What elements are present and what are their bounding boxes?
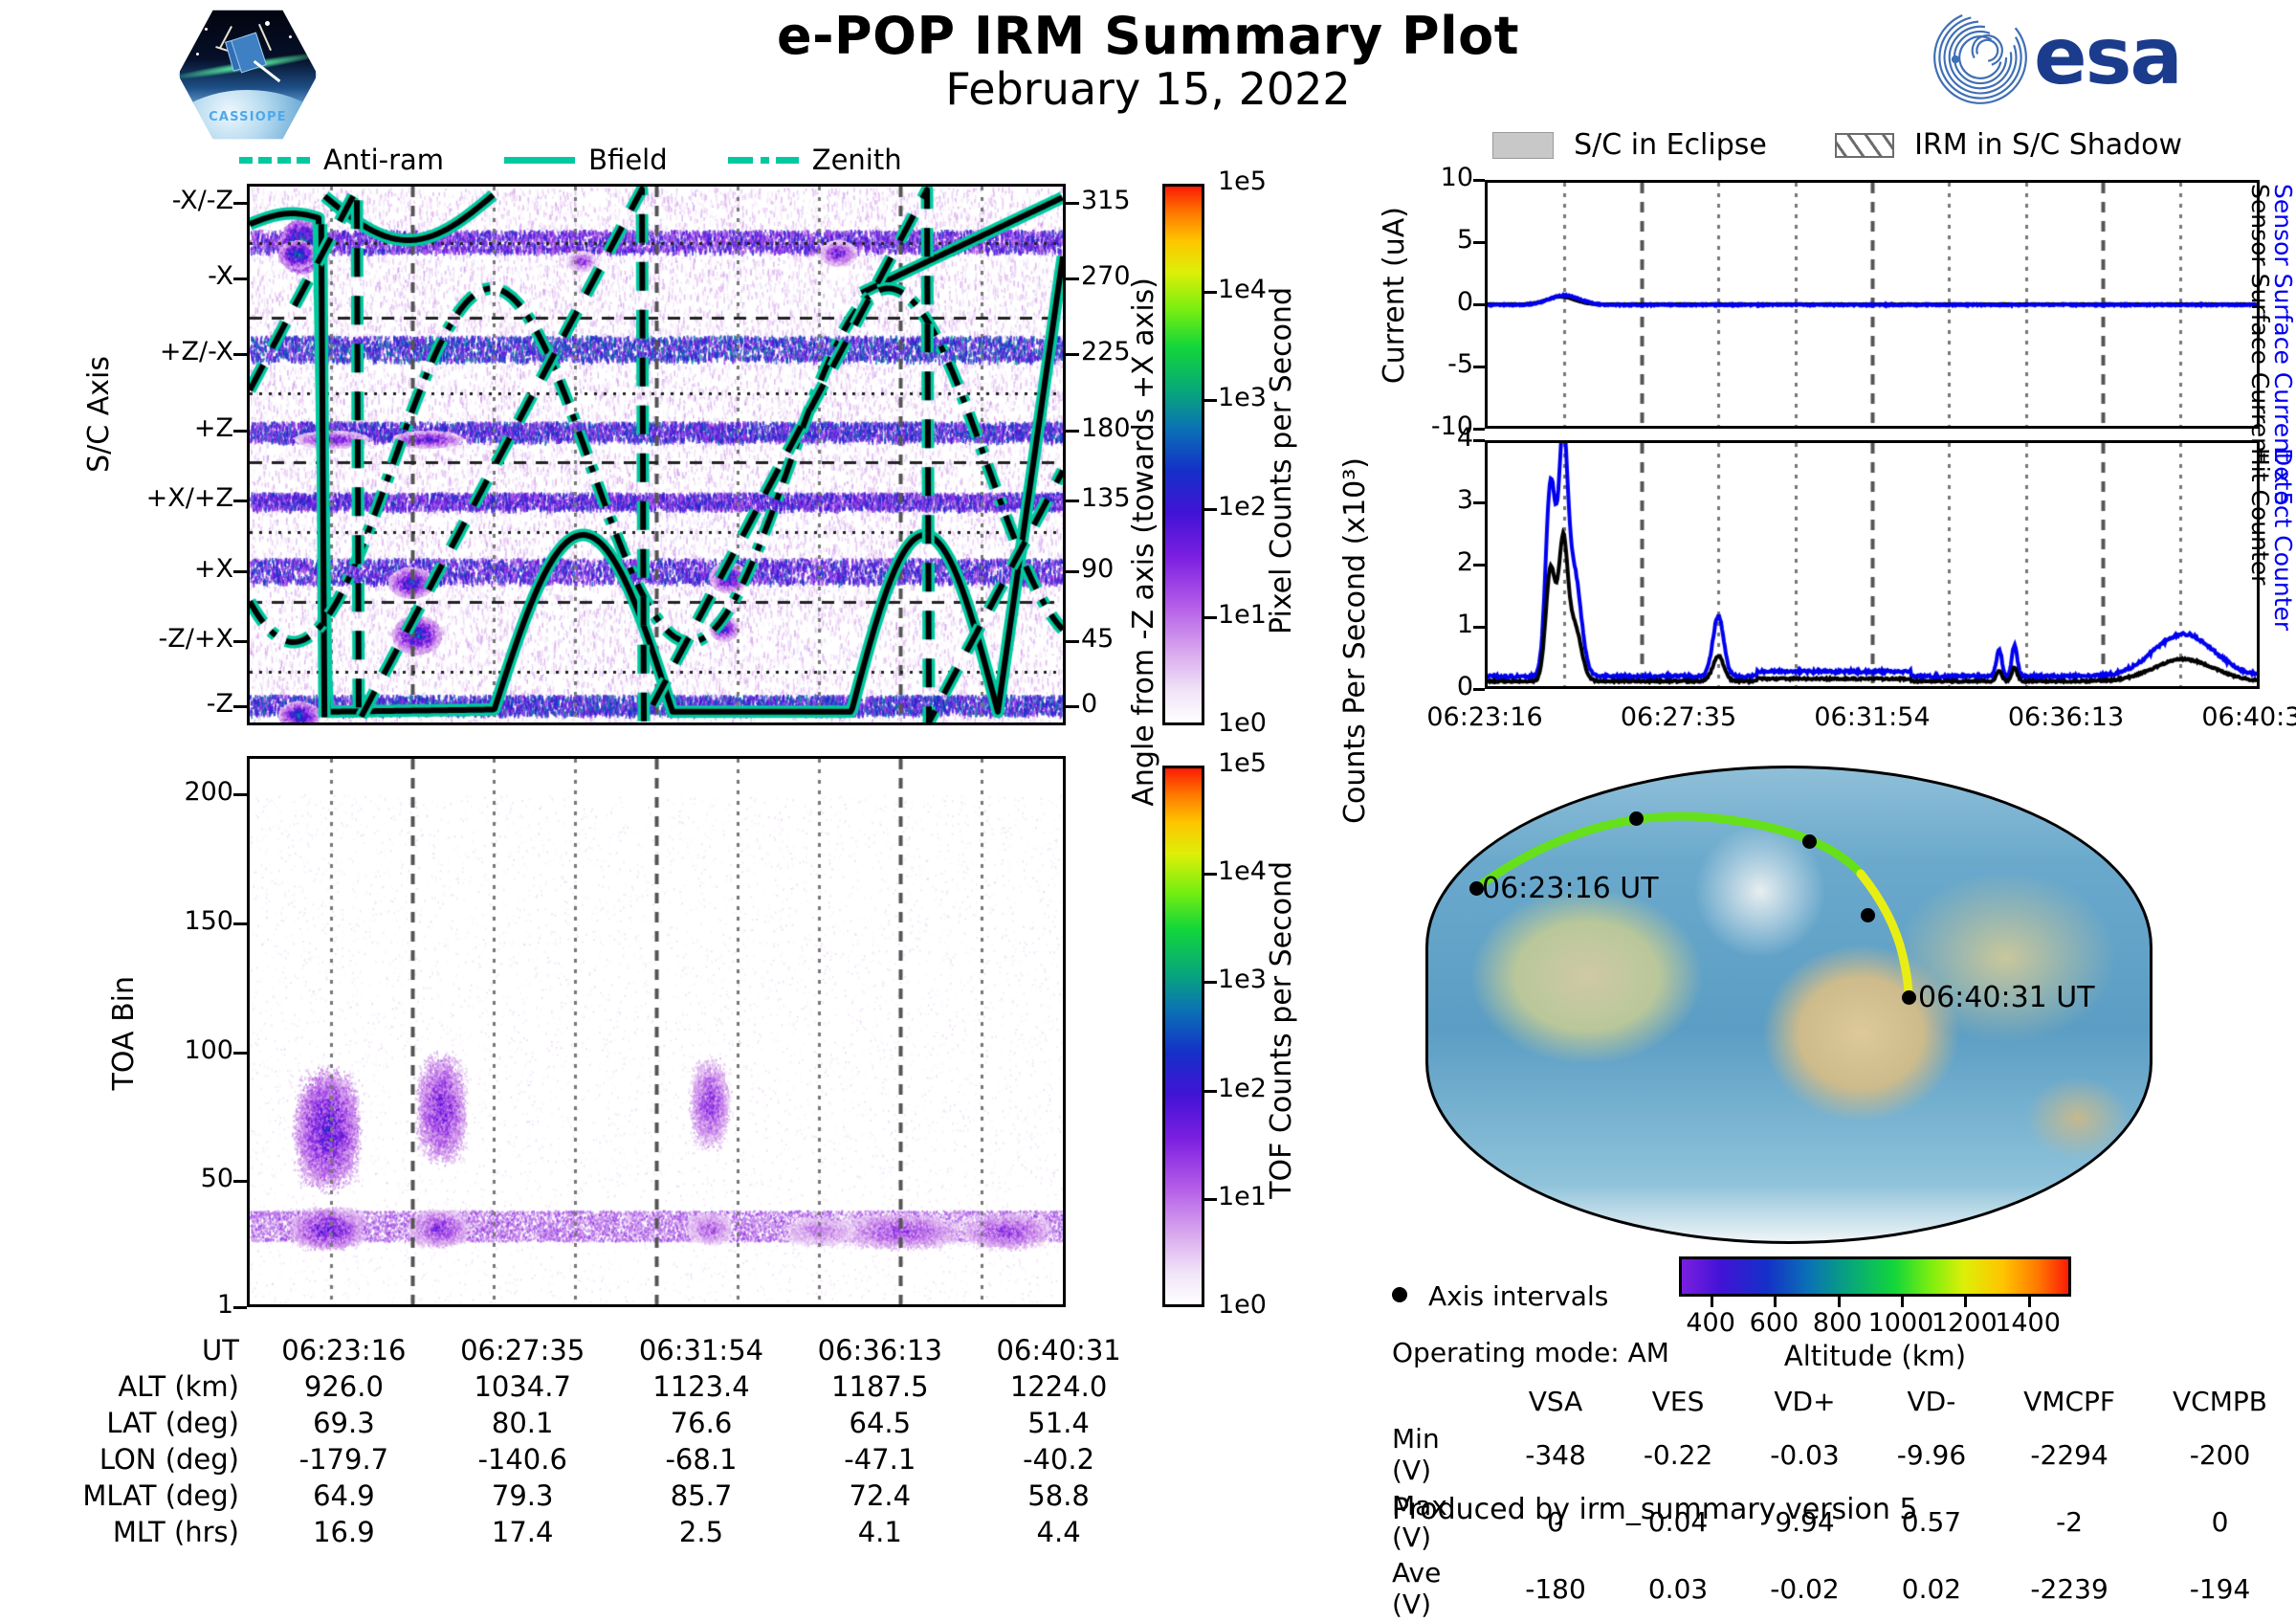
voltage-cell: 0.03 xyxy=(1615,1555,1741,1622)
track-interval-dot xyxy=(1629,811,1644,826)
ytick-mark xyxy=(233,570,247,573)
voltage-cell: -0.22 xyxy=(1615,1421,1741,1488)
ytick-mark xyxy=(233,500,247,502)
ytick-label: +Z xyxy=(194,413,233,443)
ytick-label: -Z xyxy=(207,689,233,719)
angle-ytick-label: 180 xyxy=(1081,413,1131,443)
voltage-cell: -2 xyxy=(1995,1488,2144,1555)
orbit-row-label: LON (deg) xyxy=(57,1441,254,1478)
ytick-mark xyxy=(233,705,247,708)
solid-line-icon xyxy=(504,157,575,164)
xtick-label: 06:31:54 xyxy=(1788,702,1956,732)
voltage-row-label: Ave (V) xyxy=(1392,1555,1496,1622)
ytick-label: 3 xyxy=(1457,485,1473,515)
ytick-mark xyxy=(233,1306,247,1309)
voltage-cell: -2294 xyxy=(1995,1421,2144,1488)
orbit-cell: 06:31:54 xyxy=(612,1332,791,1368)
orbit-cell: 76.6 xyxy=(612,1405,791,1441)
orbit-cell: 06:40:31 xyxy=(969,1332,1148,1368)
colorbar-tick-label: 1e4 xyxy=(1218,856,1267,886)
ytick-mark xyxy=(1066,430,1079,433)
xtick-label: 06:23:16 xyxy=(1401,702,1569,732)
orbit-row-label: MLT (hrs) xyxy=(57,1514,254,1550)
colorbar-tick-mark xyxy=(1204,873,1217,876)
ytick-label: 1 xyxy=(217,1290,233,1320)
orbit-parameters-table: UT06:23:1606:27:3506:31:5406:36:1306:40:… xyxy=(57,1332,1148,1550)
colorbar-tick-mark xyxy=(1204,1198,1217,1201)
colorbar-tick-label: 1e3 xyxy=(1218,965,1267,994)
orbit-cell: 1187.5 xyxy=(790,1368,969,1405)
altitude-tick-mark xyxy=(1838,1297,1841,1307)
orbit-row-label: MLAT (deg) xyxy=(57,1478,254,1514)
angle-ytick-label: 270 xyxy=(1081,261,1131,291)
colorbar-tick-label: 1e5 xyxy=(1218,748,1267,778)
current-plot[interactable] xyxy=(1485,180,2260,429)
orbit-cell: 4.4 xyxy=(969,1514,1148,1550)
colorbar-tick-label: 1e5 xyxy=(1218,167,1267,196)
eclipse-legend-label: S/C in Eclipse xyxy=(1574,128,1767,162)
ytick-mark xyxy=(233,1052,247,1055)
colorbar-tick-label: 1e2 xyxy=(1218,492,1267,522)
dash-dot-line-icon xyxy=(728,157,799,164)
sc-axis-ylabel: S/C Axis xyxy=(82,356,116,473)
pixel-counts-colorbar xyxy=(1162,184,1204,725)
orbit-cell: -47.1 xyxy=(790,1441,969,1478)
orbit-cell: 926.0 xyxy=(254,1368,433,1405)
voltage-cell: -194 xyxy=(2144,1555,2296,1622)
ytick-label: 100 xyxy=(184,1035,233,1065)
angle-ytick-label: 45 xyxy=(1081,624,1114,654)
ytick-label: -Z/+X xyxy=(159,624,233,654)
orbit-cell: 17.4 xyxy=(433,1514,612,1550)
ytick-mark xyxy=(1473,366,1485,368)
xtick-label: 06:36:13 xyxy=(1982,702,2151,732)
angle-trace-legend: Anti-ram Bfield Zenith xyxy=(239,144,1081,176)
voltage-column-header: VD+ xyxy=(1741,1386,1867,1421)
colorbar-tick-mark xyxy=(1204,508,1217,511)
voltage-cell: 0.02 xyxy=(1868,1555,1995,1622)
ytick-label: 10 xyxy=(1441,163,1473,192)
orbit-cell: 80.1 xyxy=(433,1405,612,1441)
ytick-label: +Z/-X xyxy=(160,337,233,367)
xtick-label: 06:40:31 xyxy=(2175,702,2296,732)
dashed-line-icon xyxy=(239,157,310,164)
table-row: UT06:23:1606:27:3506:31:5406:36:1306:40:… xyxy=(57,1332,1148,1368)
colorbar-tick-mark xyxy=(1204,981,1217,984)
track-end-label: 06:40:31 UT xyxy=(1918,981,2095,1014)
angle-ytick-label: 0 xyxy=(1081,689,1097,719)
ytick-mark xyxy=(1066,202,1079,205)
ytick-mark xyxy=(1473,439,1485,442)
axis-intervals-label: Axis intervals xyxy=(1428,1280,1608,1312)
orbit-cell: 16.9 xyxy=(254,1514,433,1550)
counts-ylabel: Counts Per Second (x10³) xyxy=(1339,457,1397,824)
colorbar-tick-label: 1e0 xyxy=(1218,708,1267,738)
orbit-cell: 64.5 xyxy=(790,1405,969,1441)
orbit-cell: 1224.0 xyxy=(969,1368,1148,1405)
orbit-cell: 85.7 xyxy=(612,1478,791,1514)
orbit-cell: 1123.4 xyxy=(612,1368,791,1405)
current-ylabel: Current (uA) xyxy=(1378,207,1411,384)
sc-axis-spectrogram-plot[interactable] xyxy=(247,184,1066,725)
table-row: Min (V)-348-0.22-0.03-9.96-2294-200 xyxy=(1392,1421,2296,1488)
ytick-mark xyxy=(1473,241,1485,244)
ytick-label: 4 xyxy=(1457,423,1473,453)
orbit-cell: 58.8 xyxy=(969,1478,1148,1514)
orbit-cell: 4.1 xyxy=(790,1514,969,1550)
shadow-hatch-swatch-icon xyxy=(1835,133,1894,158)
track-interval-dot xyxy=(1802,834,1817,849)
track-start-label: 06:23:16 UT xyxy=(1482,872,1659,905)
ytick-label: 2 xyxy=(1457,547,1473,577)
colorbar-tick-mark xyxy=(1204,291,1217,294)
toa-bin-spectrogram-plot[interactable] xyxy=(247,756,1066,1307)
orbit-row-label: ALT (km) xyxy=(57,1368,254,1405)
orbit-cell: -179.7 xyxy=(254,1441,433,1478)
ytick-mark xyxy=(233,202,247,205)
ytick-mark xyxy=(1473,564,1485,567)
ytick-mark xyxy=(233,430,247,433)
angle-axis-label: Angle from -Z axis (towards +X axis) xyxy=(1127,278,1160,807)
voltage-row-label: Min (V) xyxy=(1392,1421,1496,1488)
ytick-mark xyxy=(1473,303,1485,306)
orbit-row-label: LAT (deg) xyxy=(57,1405,254,1441)
legend-label: Zenith xyxy=(812,144,902,176)
ytick-label: -X/-Z xyxy=(172,186,233,215)
table-row: MLAT (deg)64.979.385.772.458.8 xyxy=(57,1478,1148,1514)
ytick-mark xyxy=(233,793,247,796)
altitude-tick-mark xyxy=(2028,1297,2031,1307)
ytick-mark xyxy=(1066,353,1079,356)
colorbar-tick-mark xyxy=(1204,399,1217,402)
toa-bin-ylabel: TOA Bin xyxy=(107,976,141,1090)
colorbar-tick-label: 1e3 xyxy=(1218,383,1267,412)
orbit-cell: 51.4 xyxy=(969,1405,1148,1441)
colorbar-tick-mark xyxy=(1204,616,1217,619)
patch-label: CASSIOPE xyxy=(180,110,316,124)
orbit-cell: -40.2 xyxy=(969,1441,1148,1478)
current-series-label-black: Sensor Surface Current xyxy=(2246,184,2274,462)
axis-intervals-legend: Axis intervals xyxy=(1392,1280,1608,1312)
ytick-label: -5 xyxy=(1447,349,1473,379)
colorbar-tick-label: 1e2 xyxy=(1218,1074,1267,1103)
track-interval-dot xyxy=(1861,908,1875,922)
ytick-mark xyxy=(1473,428,1485,431)
voltage-column-header: VES xyxy=(1615,1386,1741,1421)
ground-track-map[interactable]: 06:23:16 UT 06:40:31 UT xyxy=(1425,766,2152,1244)
orbit-cell: 06:36:13 xyxy=(790,1332,969,1368)
altitude-tick-mark xyxy=(1901,1297,1904,1307)
table-row: MLT (hrs)16.917.42.54.14.4 xyxy=(57,1514,1148,1550)
voltage-cell: -348 xyxy=(1496,1421,1615,1488)
tof-counts-colorbar xyxy=(1162,766,1204,1307)
table-row: ALT (km)926.01034.71123.41187.51224.0 xyxy=(57,1368,1148,1405)
legend-label: Anti-ram xyxy=(323,144,444,176)
table-row: LAT (deg)69.380.176.664.551.4 xyxy=(57,1405,1148,1441)
orbit-cell: -140.6 xyxy=(433,1441,612,1478)
orbit-cell: -68.1 xyxy=(612,1441,791,1478)
orbit-cell: 06:23:16 xyxy=(254,1332,433,1368)
ytick-label: +X xyxy=(194,554,233,584)
voltage-cell: 0 xyxy=(2144,1488,2296,1555)
angle-ytick-label: 135 xyxy=(1081,483,1131,513)
ytick-mark xyxy=(1066,640,1079,643)
orbit-cell: 69.3 xyxy=(254,1405,433,1441)
ytick-label: +X/+Z xyxy=(146,483,233,513)
ytick-label: 1 xyxy=(1457,610,1473,639)
voltage-column-header: VCMPB xyxy=(2144,1386,2296,1421)
orbit-cell: 1034.7 xyxy=(433,1368,612,1405)
eclipse-swatch-icon xyxy=(1492,132,1554,159)
ytick-mark xyxy=(1473,688,1485,691)
world-map-ellipse: 06:23:16 UT 06:40:31 UT xyxy=(1425,766,2152,1244)
voltage-cell: -0.02 xyxy=(1741,1555,1867,1622)
track-interval-dot xyxy=(1902,990,1916,1005)
eclipse-legend: S/C in Eclipse IRM in S/C Shadow xyxy=(1492,128,2258,163)
esa-mark-icon xyxy=(1931,8,2030,107)
counts-plot[interactable] xyxy=(1485,440,2260,689)
table-row: Ave (V)-1800.03-0.020.02-2239-194 xyxy=(1392,1555,2296,1622)
esa-logo: esa xyxy=(1931,8,2275,107)
orbit-cell: 72.4 xyxy=(790,1478,969,1514)
ytick-mark xyxy=(233,278,247,280)
ytick-mark xyxy=(1066,705,1079,708)
ytick-label: 200 xyxy=(184,777,233,807)
voltage-cell: -2239 xyxy=(1995,1555,2144,1622)
xtick-label: 06:27:35 xyxy=(1595,702,1763,732)
angle-ytick-label: 225 xyxy=(1081,337,1131,367)
altitude-tick-mark xyxy=(1774,1297,1777,1307)
altitude-tick-mark xyxy=(1964,1297,1967,1307)
ytick-mark xyxy=(1473,179,1485,182)
table-row: LON (deg)-179.7-140.6-68.1-47.1-40.2 xyxy=(57,1441,1148,1478)
altitude-colorbar-label: Altitude (km) xyxy=(1679,1340,2071,1372)
ytick-label: 0 xyxy=(1457,287,1473,317)
orbit-cell: 79.3 xyxy=(433,1478,612,1514)
pixel-counts-colorbar-label: Pixel Counts per Second xyxy=(1265,287,1298,634)
voltage-column-header: VD- xyxy=(1868,1386,1995,1421)
ytick-mark xyxy=(1066,278,1079,280)
ytick-mark xyxy=(233,1180,247,1183)
voltage-cell: -9.96 xyxy=(1868,1421,1995,1488)
colorbar-tick-label: 1e0 xyxy=(1218,1290,1267,1320)
ytick-mark xyxy=(233,922,247,925)
angle-ytick-label: 90 xyxy=(1081,554,1114,584)
legend-item-zenith: Zenith xyxy=(728,144,902,176)
dot-icon xyxy=(1392,1287,1407,1302)
legend-label: Bfield xyxy=(588,144,667,176)
orbit-row-label: UT xyxy=(57,1332,254,1368)
legend-item-anti-ram: Anti-ram xyxy=(239,144,444,176)
shadow-legend-label: IRM in S/C Shadow xyxy=(1914,128,2182,162)
colorbar-tick-mark xyxy=(1204,1090,1217,1093)
cassiope-mission-patch-icon: CASSIOPE xyxy=(178,8,318,142)
colorbar-tick-label: 1e4 xyxy=(1218,275,1267,304)
voltage-cell: -180 xyxy=(1496,1555,1615,1622)
voltage-column-header: VMCPF xyxy=(1995,1386,2144,1421)
ytick-mark xyxy=(1473,626,1485,629)
ytick-label: 150 xyxy=(184,906,233,936)
altitude-colorbar xyxy=(1679,1256,2071,1297)
legend-item-bfield: Bfield xyxy=(504,144,667,176)
orbit-cell: 64.9 xyxy=(254,1478,433,1514)
angle-ytick-label: 315 xyxy=(1081,186,1131,215)
ytick-label: 0 xyxy=(1457,672,1473,701)
orbit-cell: 06:27:35 xyxy=(433,1332,612,1368)
altitude-tick-label: 1400 xyxy=(1980,1308,2076,1338)
tof-counts-colorbar-label: TOF Counts per Second xyxy=(1265,861,1298,1199)
colorbar-tick-label: 1e1 xyxy=(1218,600,1267,630)
voltage-cell: -200 xyxy=(2144,1421,2296,1488)
operating-mode-label: Operating mode: AM xyxy=(1392,1337,1669,1368)
ytick-label: 5 xyxy=(1457,225,1473,255)
esa-wordmark: esa xyxy=(2034,10,2181,105)
voltage-column-header: VSA xyxy=(1496,1386,1615,1421)
voltage-cell: -0.03 xyxy=(1741,1421,1867,1488)
altitude-tick-mark xyxy=(1711,1297,1713,1307)
ytick-mark xyxy=(1066,500,1079,502)
orbit-cell: 2.5 xyxy=(612,1514,791,1550)
ytick-mark xyxy=(233,640,247,643)
ytick-mark xyxy=(1473,501,1485,504)
produced-by-footer: Produced by irm_summary version 5 xyxy=(1392,1493,1917,1526)
ytick-mark xyxy=(233,353,247,356)
colorbar-tick-label: 1e1 xyxy=(1218,1182,1267,1211)
counts-series-label-black: Hit Counter xyxy=(2246,448,2274,585)
ytick-label: -X xyxy=(208,261,233,291)
ytick-mark xyxy=(1066,570,1079,573)
ytick-label: 50 xyxy=(201,1164,233,1193)
